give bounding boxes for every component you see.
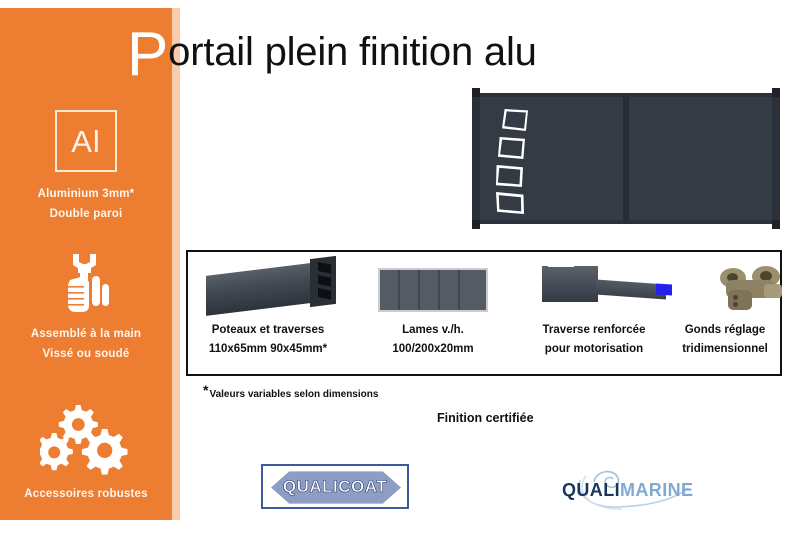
qualimarine-text-light: MARINE — [620, 480, 693, 500]
product-poteaux-et-traverses: Poteaux et traverses 110x65mm 90x45mm* — [188, 252, 348, 374]
product-3-sub: tridimensionnel — [682, 343, 768, 355]
feature-aluminium-line1: Aluminium 3mm* — [0, 184, 172, 204]
feature-accessories: Accessoires robustes — [0, 402, 172, 504]
gate-product-photo — [472, 93, 780, 224]
aluminium-al-badge-icon: Al — [55, 110, 117, 172]
product-gonds: Gonds réglage tridimensionnel — [670, 252, 780, 374]
feature-assembly-line1: Assemblé à la main — [0, 324, 172, 344]
gate-post-top-right — [772, 88, 780, 97]
slat-panel-icon — [348, 260, 518, 318]
gate-post-top-left — [472, 88, 480, 97]
feature-accessories-line1: Accessoires robustes — [0, 484, 172, 504]
feature-assembly-line2: Vissé ou soudé — [0, 344, 172, 364]
product-0-name: Poteaux et traverses — [212, 324, 325, 336]
feature-aluminium-line2: Double paroi — [0, 204, 172, 224]
product-2-sub: pour motorisation — [545, 343, 643, 355]
qualimarine-logo-text: QUALIMARINE — [562, 480, 693, 501]
product-1-name: Lames v./h. — [402, 324, 464, 336]
footnote-text: Valeurs variables selon dimensions — [209, 389, 378, 400]
gate-post-bottom-right — [772, 220, 780, 229]
gears-icon — [0, 402, 172, 476]
qualicoat-logo: QUALICOAT — [261, 464, 409, 509]
product-traverse-renforcee: Traverse renforcée pour motorisation — [518, 252, 670, 374]
gate-leaf-right — [626, 93, 780, 224]
post-and-rail-profile-icon — [188, 260, 348, 318]
page-title: Portail plein finition alu — [127, 24, 537, 86]
gate-leaf-left — [472, 93, 626, 224]
reinforced-crossbar-icon — [518, 260, 670, 318]
feature-aluminium: Al Aluminium 3mm* Double paroi — [0, 110, 172, 224]
product-1-sub: 100/200x20mm — [392, 343, 473, 355]
qualicoat-logo-text: QUALICOAT — [283, 477, 387, 497]
adjustable-hinge-icon — [670, 260, 780, 318]
footnote-star: * — [203, 382, 208, 398]
qualimarine-logo: QUALIMARINE — [556, 466, 716, 510]
certification-heading: Finition certifiée — [437, 411, 534, 425]
title-drop-cap: P — [127, 20, 168, 89]
hand-wrench-icon — [0, 250, 172, 316]
gate-post-bottom-left — [472, 220, 480, 229]
products-spec-box: Poteaux et traverses 110x65mm 90x45mm* L… — [186, 250, 782, 376]
product-lames: Lames v./h. 100/200x20mm — [348, 252, 518, 374]
product-2-name: Traverse renforcée — [543, 324, 646, 336]
slide-canvas: Al Aluminium 3mm* Double paroi — [0, 0, 800, 534]
footnote: *Valeurs variables selon dimensions — [203, 382, 378, 400]
qualimarine-text-dark: QUALI — [562, 480, 620, 500]
feature-assembly: Assemblé à la main Vissé ou soudé — [0, 250, 172, 364]
title-rest: ortail plein finition alu — [168, 30, 537, 74]
product-0-sub: 110x65mm 90x45mm* — [209, 343, 327, 355]
product-3-name: Gonds réglage — [685, 324, 766, 336]
